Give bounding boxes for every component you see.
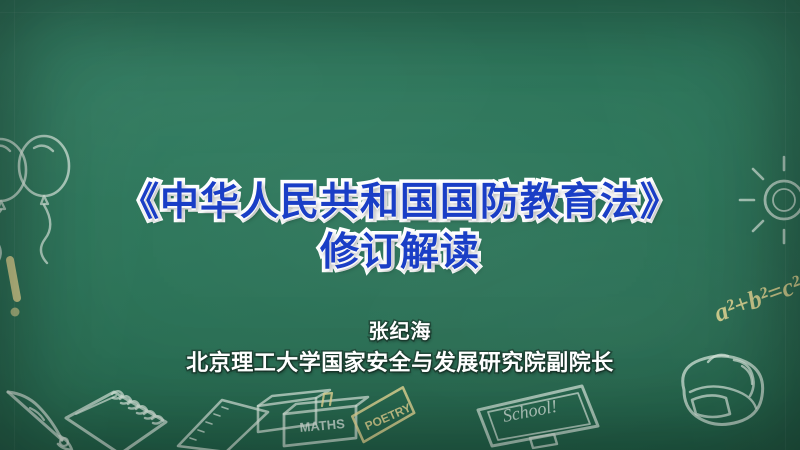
title-line-2: 修订解读 [0,228,800,278]
page-title: 《中华人民共和国国防教育法》 修订解读 [0,178,800,278]
presenter-affiliation: 北京理工大学国家安全与发展研究院副院长 [0,347,800,379]
pen-icon [2,388,92,450]
presenter-name: 张纪海 [0,318,800,347]
svg-text:POETRY: POETRY [363,401,413,434]
ruler-icon [176,398,286,450]
spiral-notebook-icon [62,392,182,450]
title-line-1: 《中华人民共和国国防教育法》 [0,178,800,228]
stacked-books-icon: MATHS POETRY [238,388,428,450]
svg-text:School!: School! [501,396,559,426]
presenter-info: 张纪海 北京理工大学国家安全与发展研究院副院长 [0,318,800,379]
svg-text:MATHS: MATHS [299,416,346,435]
slide-canvas: MATHS POETRY School! [0,0,800,450]
board-edge-line-top [0,12,800,13]
mini-chalkboard-icon: School! [470,382,610,450]
